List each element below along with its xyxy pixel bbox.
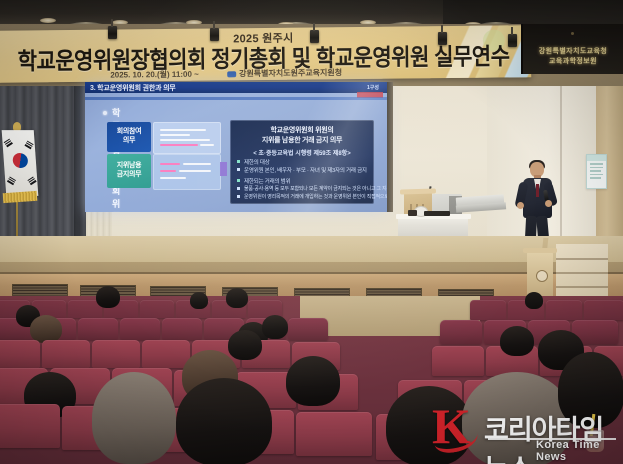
trigram-gon-icon [27,176,36,184]
seat [162,318,202,340]
trigram-ri-icon [7,176,16,184]
slide-header-title: 3. 학교운영위원회 권한과 의무 [90,83,176,93]
banner-clip [108,26,117,39]
seat [92,340,140,368]
attendee-head [525,292,543,309]
poster-header [587,155,606,161]
podium-emblem-icon [536,270,548,282]
watermark: K 코리아타임뉴스 Korea Time News [432,404,618,452]
poster-line [590,170,601,172]
led-sign: 강원특별자치도교육청 교육과학정보원 [521,24,623,74]
attendee-head [96,286,120,308]
side-podium-top [523,248,557,253]
attendee-head [286,356,340,406]
slide-box-duty-abuse-prohibition: 지위남용금지의무 [107,154,151,188]
seat [142,340,190,368]
trigram-geon-icon [4,139,13,147]
event-banner: 2025 원주시 학교운영위원장협의회 정기총회 및 학교운영위원 실무연수 2… [0,25,531,83]
banner-clip [210,28,219,41]
attendee-head-foreground [176,378,272,464]
poster-line [590,163,603,165]
org-logo-icon [227,71,236,77]
wall-poster [586,154,607,189]
poster-line [590,167,603,169]
banner-subtitle-org: 강원특별자치도원주교육지원청 [239,68,342,78]
seat [0,340,40,368]
seat [470,300,506,320]
flag-fringe [3,191,38,203]
seat [584,300,623,320]
table-object-dark [408,210,417,216]
taeguk-circle-icon [10,150,31,171]
korean-flag [2,128,38,248]
projected-slide: 3. 학교운영위원회 권한과 의무 1구성 학교운영위원회 위원의 의무 회의참… [85,82,387,212]
seat [296,412,372,456]
presenter-hand-left [517,202,524,209]
attendee-head [30,315,62,343]
seat [0,404,60,448]
slide-box-duty-participation: 회의참여의무 [107,122,151,152]
seat [120,318,160,340]
banner-subtitle-org-wrap: 강원특별자치도원주교육지원청 [227,68,342,78]
slide-desc-box-2 [153,154,221,190]
presenter-tie [536,184,539,197]
attendee-head-foreground [92,372,176,464]
seat [440,320,482,344]
seat [432,346,484,376]
watermark-logo-swoosh-icon [432,423,479,455]
seat [288,318,328,340]
photo-scene: 2025 원주시 학교운영위원장협의회 정기총회 및 학교운영위원 실무연수 2… [0,0,623,464]
attendee-head [226,288,248,308]
banner-subtitle-datetime: 2025. 10. 20.(월) 11:00 ~ [110,70,199,80]
slide-glare [235,82,387,212]
attendee-head [190,292,208,309]
seat [140,300,174,318]
arrow-connector-icon [220,162,227,176]
table-object-remote [424,211,450,216]
flag-cloth [2,130,39,196]
banner-clip [310,30,319,43]
trigram-gam-icon [25,141,34,149]
attendee-head [500,326,534,356]
screen-frame-right [387,82,393,212]
attendee-head [228,330,262,360]
ceiling-spotlight [40,18,56,23]
presenter-hand-right [545,200,552,207]
banner-clip [438,32,447,45]
led-indicator-icon [571,32,574,35]
led-sign-line1: 강원특별자치도교육청 [523,46,623,56]
seat [546,300,582,320]
banner-clip [508,34,517,47]
seat [42,340,90,368]
poster-line [590,174,603,176]
led-sign-line2: 교육과학정보원 [523,56,623,66]
attendee-head [262,315,288,339]
watermark-name-english: Korea Time News [536,439,618,463]
poster-line [590,177,601,179]
stage-stairs [556,244,608,304]
seat [78,318,118,340]
bullet-dot-icon [103,111,107,115]
slide-desc-box-1 [153,122,221,154]
